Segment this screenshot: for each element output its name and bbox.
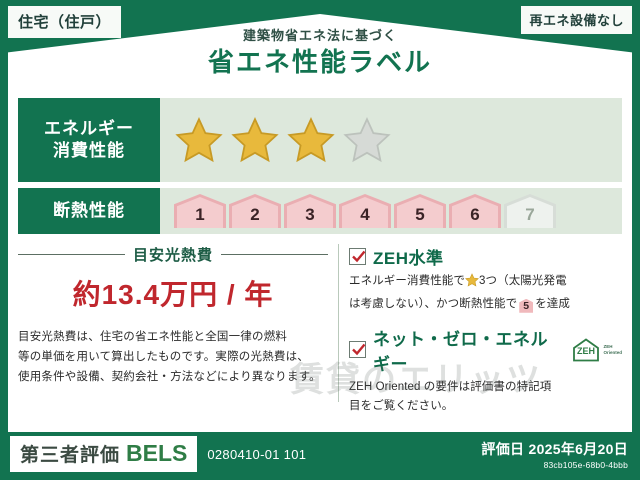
energy-label-line2: 消費性能 [53,140,125,162]
insulation-performance-label: 断熱性能 [18,188,160,234]
insulation-level-5-achieved: 5 [394,194,446,228]
cost-value: 約13.4万円 / 年 [18,273,328,313]
svg-text:ZEH: ZEH [577,346,595,356]
label-body: エネルギー 消費性能 断熱性能 1234567 目安光熱費 約13.4万円 / … [8,90,632,432]
net-zero-description: ZEH Oriented の要件は評価書の特記項 目をご覧ください。 [349,378,622,418]
insulation-level-number: 6 [470,205,479,225]
cost-heading-text: 目安光熱費 [133,244,213,265]
energy-performance-label: エネルギー 消費性能 [18,98,160,182]
bels-badge: 第三者評価 BELS [10,436,197,472]
zeh-desc-part-b: は考慮しない）、かつ断熱性能で [349,298,517,310]
bels-id-number: 0280410-01 101 [207,447,306,462]
insulation-level-number: 3 [305,205,314,225]
insulation-level-number: 5 [415,205,424,225]
inline-level-badge: 5 [519,299,533,313]
insulation-level-3-achieved: 3 [284,194,336,228]
insulation-level-7-empty: 7 [504,194,556,228]
insulation-level-6-achieved: 6 [449,194,501,228]
evaluation-info: 評価日 2025年6月20日 83cb105e-68b0-4bbb [481,439,628,470]
checkmark-icon [349,248,366,265]
star-filled-icon [174,116,224,164]
energy-label-line1: エネルギー [44,118,134,140]
insulation-performance-row: 断熱性能 1234567 [18,188,622,234]
evaluation-hash: 83cb105e-68b0-4bbb [481,460,628,470]
bels-logo-text: BELS [126,440,187,467]
insulation-level-4-achieved: 4 [339,194,391,228]
column-divider [338,244,339,402]
net-zero-check-line: ネット・ゼロ・エネルギー ZEH ZEH Oriented [349,325,622,375]
cost-disclaimer: 目安光熱費は、住宅の省エネ性能と全国一律の燃料 等の単価を用いて算出したものです… [18,327,328,387]
cost-heading: 目安光熱費 [18,244,328,265]
checkmark-icon [349,341,366,358]
star-filled-icon [230,116,280,164]
insulation-level-2-achieved: 2 [229,194,281,228]
insulation-level-number: 4 [360,205,369,225]
star-filled-icon [286,116,336,164]
zeh-desc-part-c: を達成 [535,298,570,310]
energy-star-rating [160,98,622,182]
net-zero-desc-line-2: 目をご覧ください。 [349,397,622,417]
third-party-evaluation-label: 第三者評価 [20,440,120,467]
zeh-desc-part-a: エネルギー消費性能で [349,275,465,287]
insulation-level-number: 2 [250,205,259,225]
zeh-logo-sub-line1: ZEH [603,344,612,349]
zeh-standard-title: ZEH水準 [373,244,444,269]
lower-section: 目安光熱費 約13.4万円 / 年 目安光熱費は、住宅の省エネ性能と全国一律の燃… [18,240,622,406]
cost-note-line-1: 目安光熱費は、住宅の省エネ性能と全国一律の燃料 [18,327,328,347]
insulation-level-number: 1 [195,205,204,225]
insulation-label-text: 断熱性能 [53,200,125,222]
zeh-column: ZEH水準 エネルギー消費性能で 3つ（太陽光発電 は考慮しない）、かつ断熱性能… [347,240,622,406]
zeh-standard-check-line: ZEH水準 [349,244,622,269]
energy-label-root: 住宅（住戸） 再エネ設備なし 建築物省エネ法に基づく 省エネ性能ラベル エネルギ… [0,0,640,480]
net-zero-title: ネット・ゼロ・エネルギー [373,325,562,375]
insulation-level-1-achieved: 1 [174,194,226,228]
zeh-standard-description: エネルギー消費性能で 3つ（太陽光発電 は考慮しない）、かつ断熱性能で5を達成 [349,272,622,315]
energy-performance-row: エネルギー 消費性能 [18,98,622,182]
inline-star-icon [465,273,479,295]
zeh-desc-star-count: 3つ（太陽光発電 [479,275,567,287]
cost-column: 目安光熱費 約13.4万円 / 年 目安光熱費は、住宅の省エネ性能と全国一律の燃… [18,240,338,406]
evaluation-date: 評価日 2025年6月20日 [481,439,628,459]
badge-house-type: 住宅（住戸） [8,6,121,38]
insulation-level-scale: 1234567 [174,194,556,228]
zeh-logo-sub-line2: Oriented [603,350,622,355]
cost-note-line-3: 使用条件や設備、契約会社・方法などにより異なります。 [18,367,328,387]
badge-renewable-equipment: 再エネ設備なし [521,6,632,34]
net-zero-desc-line-1: ZEH Oriented の要件は評価書の特記項 [349,378,622,398]
cost-note-line-2: 等の単価を用いて算出したものです。実際の光熱費は、 [18,347,328,367]
footer-bar: 第三者評価 BELS 0280410-01 101 評価日 2025年6月20日… [0,428,640,480]
header-title: 省エネ性能ラベル [0,46,640,79]
star-empty-icon [342,116,392,164]
insulation-level-number: 7 [525,205,534,225]
zeh-logo-icon: ZEH ZEH Oriented [571,337,622,363]
